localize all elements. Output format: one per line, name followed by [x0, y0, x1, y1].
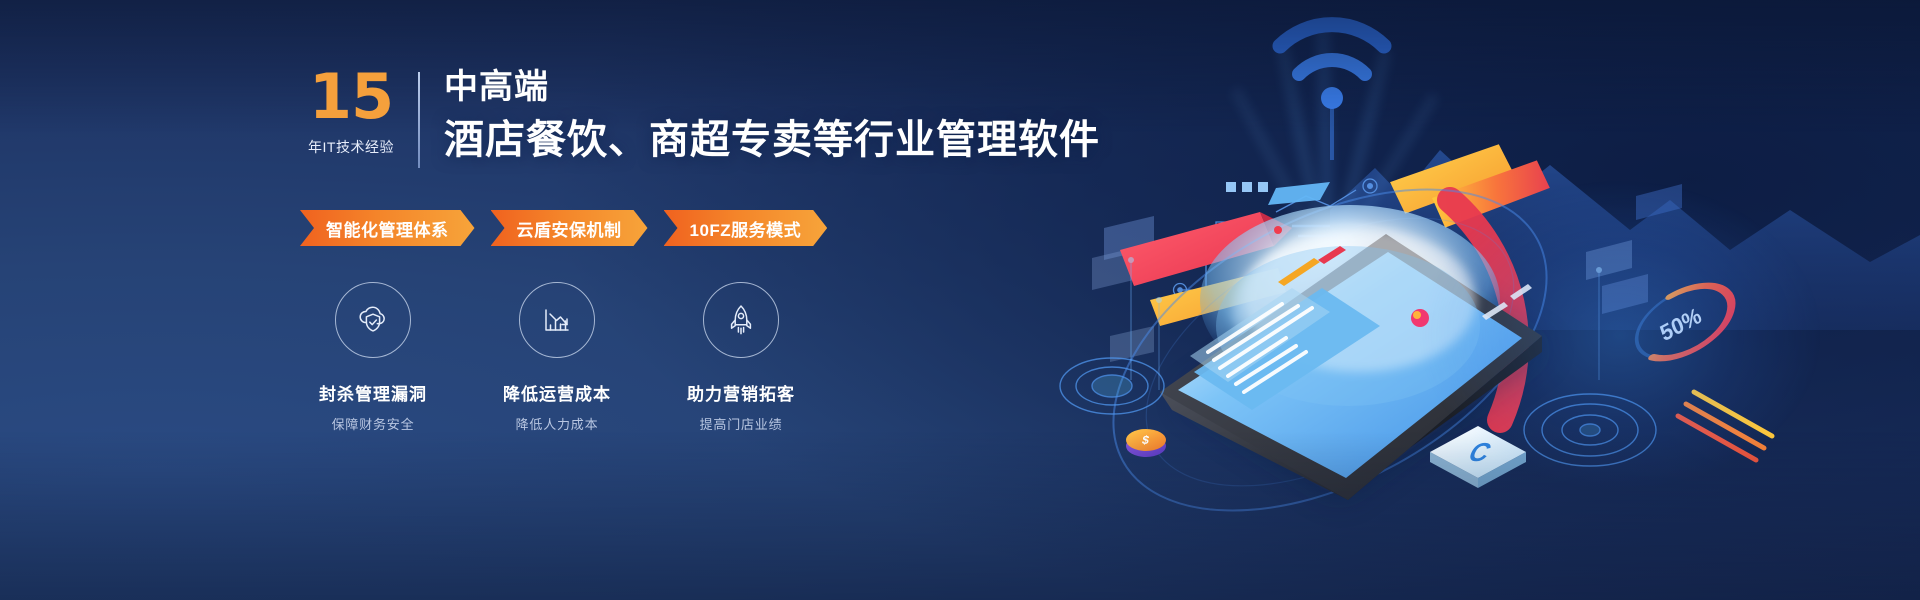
- feature-title: 封杀管理漏洞: [300, 380, 446, 405]
- experience-badge: 15 年IT技术经验: [300, 68, 418, 157]
- feature-list: 封杀管理漏洞 保障财务安全: [300, 282, 852, 433]
- tag-cloud-shield-security[interactable]: 云盾安保机制: [491, 210, 648, 246]
- tag-intelligent-management[interactable]: 智能化管理体系: [300, 210, 475, 246]
- cloud-shield-check-icon: [353, 300, 393, 340]
- feature-item-cost[interactable]: 降低运营成本 降低人力成本: [484, 282, 630, 433]
- headline-block: 15 年IT技术经验 中高端 酒店餐饮、商超专卖等行业管理软件: [300, 68, 1100, 168]
- feature-title: 助力营销拓客: [668, 380, 814, 405]
- feature-item-security[interactable]: 封杀管理漏洞 保障财务安全: [300, 282, 446, 433]
- headline-subtitle: 中高端: [444, 68, 1100, 106]
- feature-tag-list: 智能化管理体系 云盾安保机制 10FZ服务模式: [300, 210, 827, 246]
- tag-10fz-service-model[interactable]: 10FZ服务模式: [664, 210, 828, 246]
- feature-icon-ring: [703, 282, 779, 358]
- banner-content: 15 年IT技术经验 中高端 酒店餐饮、商超专卖等行业管理软件 智能化管理体系 …: [300, 0, 1040, 600]
- feature-subtitle: 提高门店业绩: [668, 414, 814, 433]
- feature-title: 降低运营成本: [484, 380, 630, 405]
- experience-number: 15: [300, 68, 402, 125]
- headline-titles: 中高端 酒店餐饮、商超专卖等行业管理软件: [420, 68, 1100, 164]
- rocket-icon: [721, 300, 761, 340]
- experience-caption: 年IT技术经验: [300, 137, 402, 157]
- feature-item-marketing[interactable]: 助力营销拓客 提高门店业绩: [668, 282, 814, 433]
- page-title: 酒店餐饮、商超专卖等行业管理软件: [444, 118, 1100, 164]
- feature-subtitle: 保障财务安全: [300, 414, 446, 433]
- hero-banner: $ C 50%: [0, 0, 1920, 600]
- feature-subtitle: 降低人力成本: [484, 414, 630, 433]
- feature-icon-ring: [335, 282, 411, 358]
- feature-icon-ring: [519, 282, 595, 358]
- declining-bar-chart-icon: [537, 300, 577, 340]
